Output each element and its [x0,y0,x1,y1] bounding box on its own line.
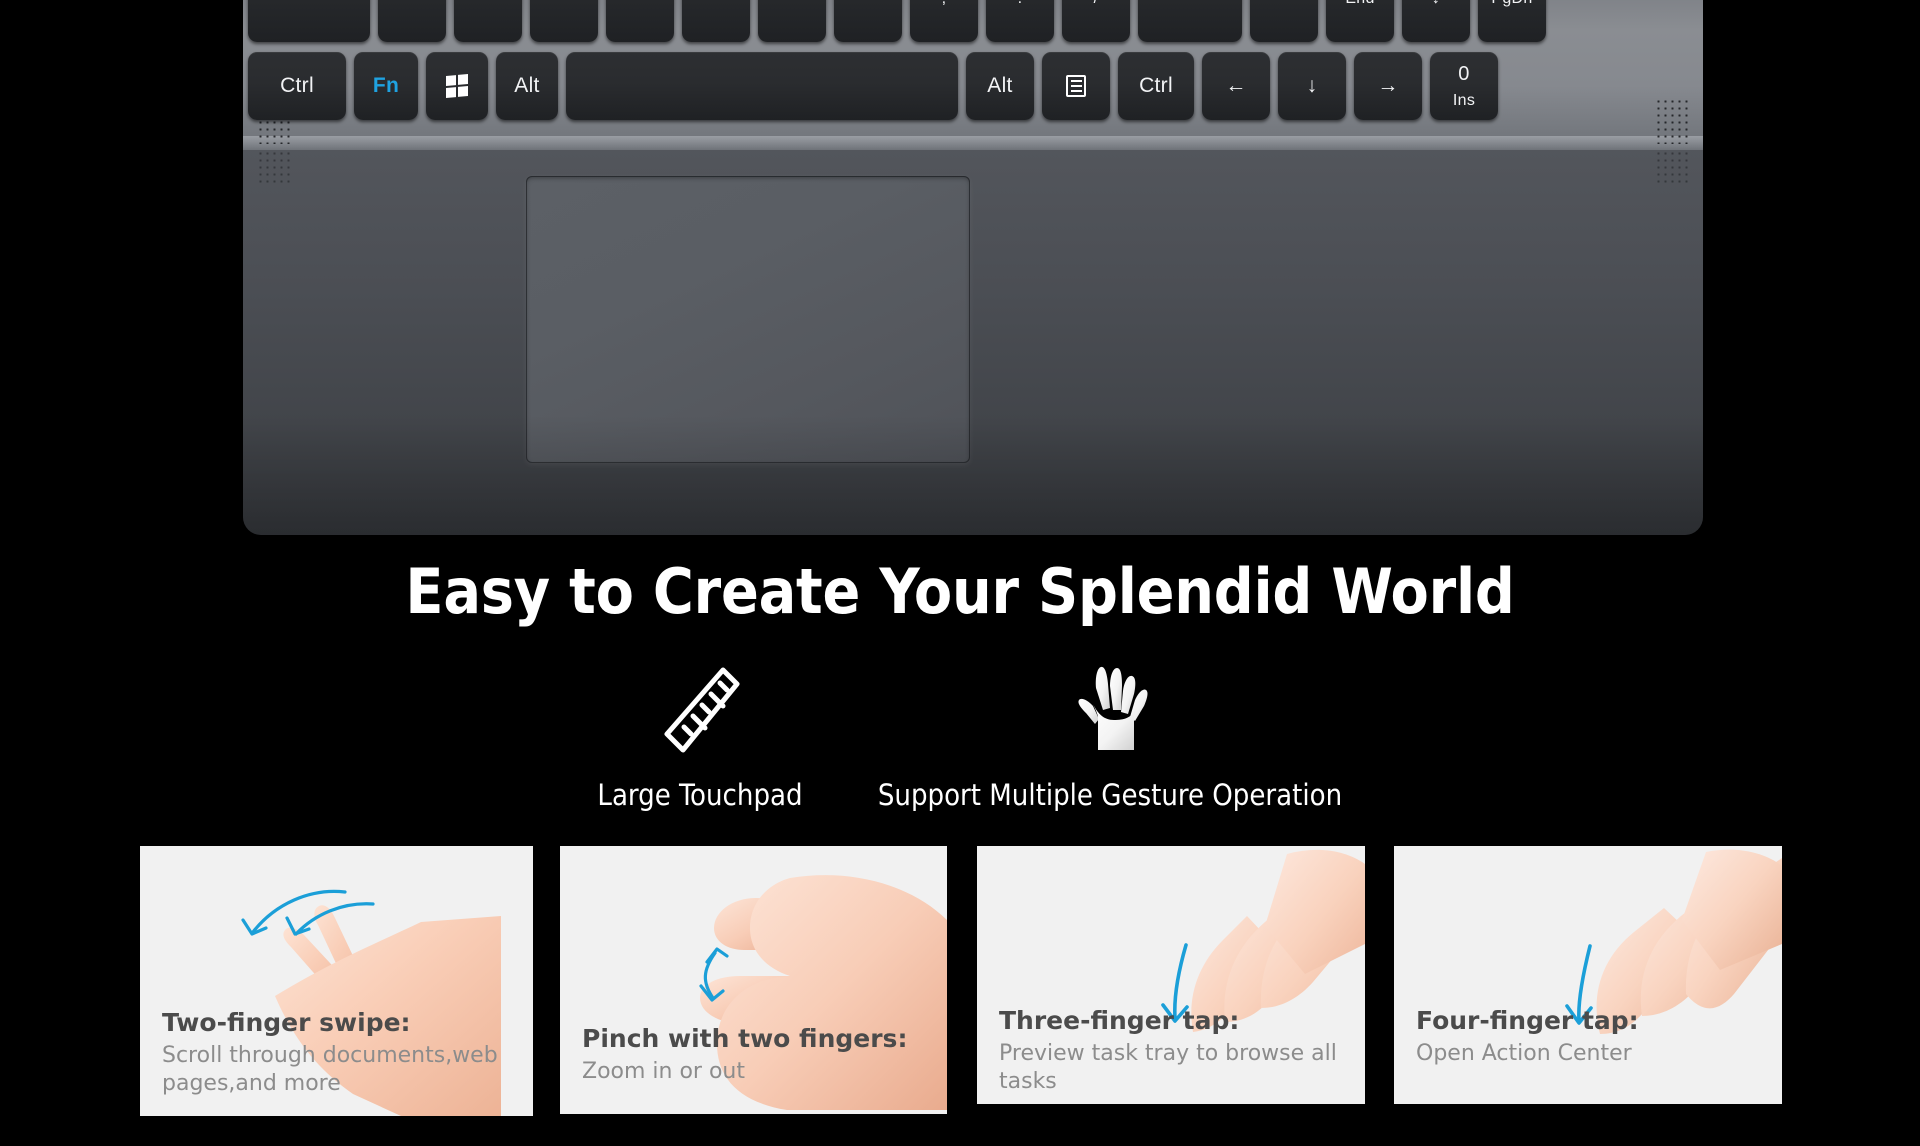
key-key-c[interactable]: C [530,0,598,42]
key-windows-key[interactable] [426,52,488,120]
key-ctrl-right[interactable]: Ctrl [1118,52,1194,120]
card-subtitle: Scroll through documents,web pages,and m… [162,1042,519,1098]
key-label: Fn [373,74,399,98]
key-arrow-up[interactable]: ↑ [1250,0,1318,42]
card-caption: Two-finger swipe: Scroll through documen… [162,1008,519,1098]
key-numpad-1-end[interactable]: 1End [1326,0,1394,42]
windows-logo-icon [446,74,468,98]
speaker-grille-left-lower-icon [257,150,291,184]
gesture-card-four-finger-tap[interactable]: Four-finger tap: Open Action Center [1394,846,1782,1104]
touchpad[interactable] [526,176,970,463]
key-sub-label: , [942,0,947,8]
key-menu-key[interactable] [1042,52,1110,120]
key-sub-label: Ins [1453,92,1475,110]
card-subtitle: Open Action Center [1416,1040,1768,1068]
key-label: ↓ [1307,74,1318,98]
feature-gesture-support: Support Multiple Gesture Operation [850,660,1370,812]
feature-label: Large Touchpad [597,778,802,812]
key-arrow-right[interactable]: → [1354,52,1422,120]
key-sub-label: / [1094,0,1099,8]
card-title: Pinch with two fingers: [582,1024,933,1054]
feature-highlights: Large Touchpad [0,660,1920,812]
key-sub-label: PgDn [1491,0,1532,8]
gesture-card-pinch[interactable]: Pinch with two fingers: Zoom in or out [560,846,947,1114]
key-label: Ctrl [1139,74,1173,98]
key-key-m[interactable]: M [834,0,902,42]
product-feature-page: ⇧ShiftZXCVBNM<,>.?/⇧Shift↑1End2↓3PgDn Ct… [0,0,1920,1146]
key-arrow-down[interactable]: ↓ [1278,52,1346,120]
feature-label: Support Multiple Gesture Operation [878,778,1342,812]
key-label: Alt [514,74,539,98]
key-ctrl-left[interactable]: Ctrl [248,52,346,120]
gesture-card-two-finger-swipe[interactable]: Two-finger swipe: Scroll through documen… [140,846,533,1116]
ruler-icon [657,660,743,760]
key-fn-key[interactable]: Fn [354,52,418,120]
card-caption: Three-finger tap: Preview task tray to b… [999,1006,1351,1096]
card-caption: Four-finger tap: Open Action Center [1416,1006,1768,1068]
card-subtitle: Preview task tray to browse all tasks [999,1040,1351,1096]
page-title: Easy to Create Your Splendid World [0,555,1920,628]
key-key-v[interactable]: V [606,0,674,42]
key-key-b[interactable]: B [682,0,750,42]
key-label: ← [1225,74,1246,98]
key-alt-right[interactable]: Alt [966,52,1034,120]
key-space-bar[interactable] [566,52,958,120]
key-sub-label: . [1018,0,1023,8]
key-label: → [1377,74,1398,98]
key-arrow-left[interactable]: ← [1202,52,1270,120]
context-menu-icon [1066,75,1086,97]
key-numpad-3-pgdn[interactable]: 3PgDn [1478,0,1546,42]
card-title: Two-finger swipe: [162,1008,519,1038]
key-numpad-0-ins[interactable]: 0Ins [1430,52,1498,120]
key-sub-label: ↓ [1432,0,1440,8]
key-shift-left[interactable]: ⇧Shift [248,0,370,42]
key-shift-right[interactable]: ⇧Shift [1138,0,1242,42]
key-numpad-2-down[interactable]: 2↓ [1402,0,1470,42]
speaker-grille-right-lower-icon [1655,150,1689,184]
key-key-n[interactable]: N [758,0,826,42]
key-key-comma[interactable]: <, [910,0,978,42]
key-label: Alt [987,74,1012,98]
key-alt-left[interactable]: Alt [496,52,558,120]
card-title: Four-finger tap: [1416,1006,1768,1036]
key-sub-label: End [1345,0,1374,8]
card-caption: Pinch with two fingers: Zoom in or out [582,1024,933,1086]
key-key-slash[interactable]: ?/ [1062,0,1130,42]
gesture-card-three-finger-tap[interactable]: Three-finger tap: Preview task tray to b… [977,846,1365,1104]
key-key-z[interactable]: Z [378,0,446,42]
key-label: Ctrl [280,74,314,98]
keyboard-row-bottom: CtrlFnAltAltCtrl←↓→0Ins [248,52,1498,120]
keyboard-row-zxcvbnm: ⇧ShiftZXCVBNM<,>.?/⇧Shift↑1End2↓3PgDn [248,0,1546,42]
gesture-card-list: Two-finger swipe: Scroll through documen… [140,846,1785,1116]
card-title: Three-finger tap: [999,1006,1351,1036]
feature-large-touchpad: Large Touchpad [550,660,850,812]
laptop-image: ⇧ShiftZXCVBNM<,>.?/⇧Shift↑1End2↓3PgDn Ct… [243,0,1703,535]
card-subtitle: Zoom in or out [582,1058,933,1086]
speaker-grille-right-icon [1655,98,1689,144]
open-hand-icon [1062,660,1158,760]
key-key-x[interactable]: X [454,0,522,42]
key-top-label: 0 [1458,63,1469,86]
key-key-period[interactable]: >. [986,0,1054,42]
